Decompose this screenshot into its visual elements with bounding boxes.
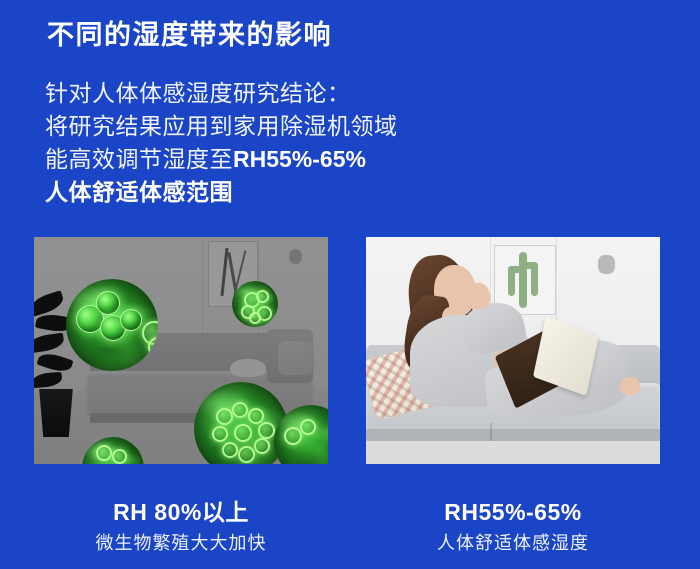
- humidity-infographic-poster: 不同的湿度带来的影响 针对人体体感湿度研究结论： 将研究结果应用到家用除湿机领域…: [0, 0, 700, 569]
- photo-comfort-humidity: [366, 237, 660, 464]
- room-scene-natural: [366, 237, 660, 464]
- cactus-stem: [519, 252, 527, 308]
- intro-paragraph: 针对人体体感湿度研究结论： 将研究结果应用到家用除湿机领域 能高效调节湿度至RH…: [45, 77, 475, 209]
- intro-line-4: 人体舒适体感范围: [45, 176, 475, 209]
- caption-comfort-humidity: RH55%-65% 人体舒适体感湿度: [366, 498, 660, 555]
- sofa-base: [366, 429, 660, 441]
- caption-main-text: RH 80%以上: [34, 498, 328, 526]
- microbe-bottom: [82, 437, 144, 464]
- cactus-arm: [523, 262, 538, 269]
- microbe-large: [66, 279, 158, 371]
- microbe-small-spiky: [232, 281, 278, 327]
- caption-sub-text: 人体舒适体感湿度: [366, 531, 660, 555]
- caption-main-text: RH55%-65%: [366, 498, 660, 526]
- intro-line-3-normal: 能高效调节湿度至: [45, 146, 233, 172]
- intro-line-1: 针对人体体感湿度研究结论：: [45, 77, 475, 110]
- sofa-seam: [490, 423, 492, 441]
- microbe-overlay: [34, 237, 328, 464]
- microbe-large-receptor: [194, 382, 288, 464]
- intro-line-2: 将研究结果应用到家用除湿机领域: [45, 110, 475, 143]
- page-title: 不同的湿度带来的影响: [47, 18, 332, 52]
- caption-high-humidity: RH 80%以上 微生物繁殖大大加快: [34, 498, 328, 555]
- foot: [620, 377, 640, 395]
- intro-line-3: 能高效调节湿度至RH55%-65%: [45, 143, 475, 176]
- intro-line-3-highlight: RH55%-65%: [233, 146, 366, 172]
- photo-high-humidity: [34, 237, 328, 464]
- caption-sub-text: 微生物繁殖大大加快: [34, 531, 328, 555]
- wall-knob: [598, 255, 615, 274]
